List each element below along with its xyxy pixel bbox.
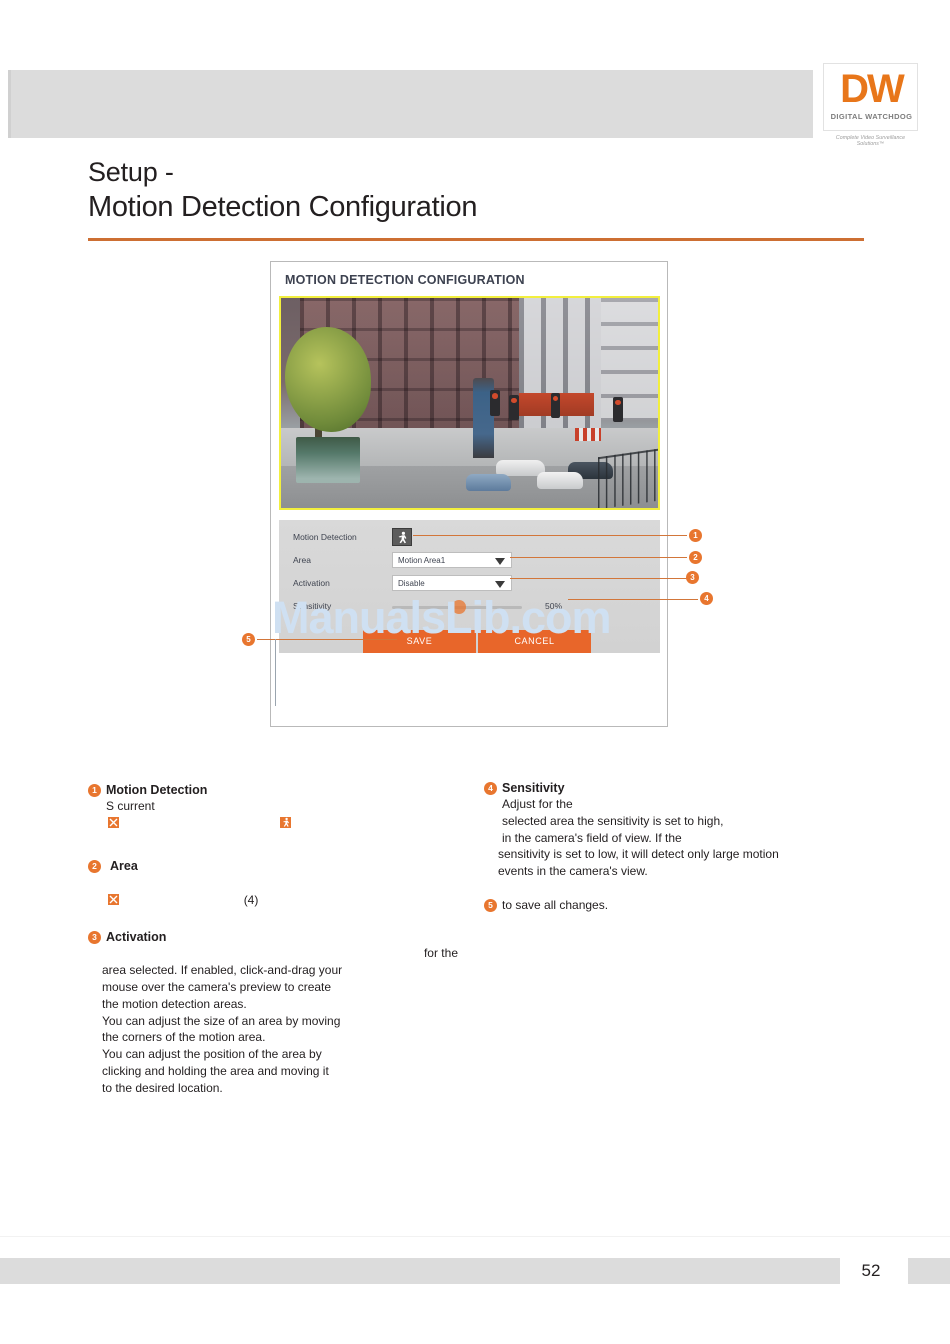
note-5: 5 to save all changes.	[484, 897, 830, 914]
callout-leader-4	[568, 599, 698, 600]
screenshot-panel-title: MOTION DETECTION CONFIGURATION	[285, 273, 525, 287]
logo-tagline: Complete Video Surveillance Solutions™	[823, 135, 918, 147]
chevron-down-icon	[495, 558, 505, 565]
callout-leader-2	[510, 557, 687, 558]
activation-label: Activation	[293, 578, 330, 588]
preview-traffic-light	[509, 395, 519, 420]
note-heading-2: Area	[110, 858, 460, 874]
motion-disabled-icon	[280, 817, 291, 828]
note-line: the corners of the motion area.	[102, 1029, 460, 1046]
note-line: to save all changes.	[502, 897, 830, 914]
brand-logo: DW DIGITAL WATCHDOG Complete Video Surve…	[823, 63, 918, 153]
motion-person-icon[interactable]	[392, 528, 412, 546]
area-select[interactable]: Motion Area1	[392, 552, 512, 568]
preview-traffic-light	[490, 390, 500, 415]
note-line: selected area the sensitivity is set to …	[502, 813, 830, 830]
form-row-sensitivity: Sensitivity 50%	[279, 597, 660, 618]
preview-building-far	[601, 298, 658, 420]
screenshot-panel: MOTION DETECTION CONFIGURATION Motion De…	[270, 261, 668, 727]
callout-badge-2: 2	[689, 551, 702, 564]
logo-mark: DW DIGITAL WATCHDOG	[823, 63, 918, 131]
note-line: sensitivity is set to low, it will detec…	[498, 846, 830, 863]
sensitivity-label: Sensitivity	[293, 601, 331, 611]
note-line: events in the camera's view.	[498, 863, 830, 880]
preview-traffic-light	[613, 397, 623, 422]
sensitivity-slider-handle[interactable]	[452, 600, 466, 614]
callout-leader-5	[257, 639, 397, 640]
note-line: area selected. If enabled, click-and-dra…	[102, 962, 460, 979]
footer-right-block	[908, 1258, 950, 1284]
area-label: Area	[293, 555, 311, 565]
note-line: in the camera's field of view. If the	[502, 830, 830, 847]
note-area-count: (4)	[244, 893, 259, 907]
camera-preview[interactable]	[279, 296, 660, 510]
note-line: You can adjust the position of the area …	[102, 1046, 460, 1063]
preview-traffic-light	[551, 393, 561, 418]
note-heading-4: Sensitivity	[502, 780, 830, 796]
preview-road-barrier	[575, 428, 601, 441]
note-line: to the desired location.	[102, 1080, 460, 1097]
activation-select-value: Disable	[398, 579, 425, 588]
logo-dw-text: DW	[828, 66, 915, 112]
note-1: 1 Motion Detection S current	[88, 782, 460, 832]
note-line	[106, 874, 460, 892]
note-line-with-icons	[106, 815, 460, 832]
form-row-motion-detection: Motion Detection	[279, 528, 660, 549]
preview-railing	[598, 449, 658, 510]
callout-badge-3: 3	[686, 571, 699, 584]
page-title-line1: Setup -	[88, 156, 788, 188]
motion-area-icon	[108, 894, 119, 905]
preview-bus-shelter	[296, 437, 360, 483]
callout-badge-5: 5	[242, 633, 255, 646]
note-line: the motion detection areas.	[102, 996, 460, 1013]
notes-column-left: 1 Motion Detection S current 2	[88, 782, 460, 1114]
area-select-value: Motion Area1	[398, 556, 445, 565]
note-line: for the	[102, 945, 460, 962]
note-3: 3 Activation for the area selected. If e…	[88, 929, 460, 1096]
note-badge-4: 4	[484, 782, 497, 795]
form-row-area: Area Motion Area1	[279, 551, 660, 572]
chevron-down-icon	[495, 581, 505, 588]
notes-column-right: 4 Sensitivity Adjust for the selected ar…	[484, 780, 830, 931]
page-title: Setup - Motion Detection Configuration	[88, 156, 788, 226]
note-line: S current	[106, 798, 460, 815]
save-button[interactable]: SAVE	[363, 630, 476, 653]
motion-detection-label: Motion Detection	[293, 532, 357, 542]
note-badge-3: 3	[88, 931, 101, 944]
callout-leader-1	[413, 535, 687, 536]
page-number: 52	[848, 1258, 894, 1284]
note-heading-1: Motion Detection	[106, 782, 460, 798]
note-badge-2: 2	[88, 860, 101, 873]
note-line: You can adjust the size of an area by mo…	[102, 1013, 460, 1030]
note-4: 4 Sensitivity Adjust for the selected ar…	[484, 780, 830, 880]
note-badge-5: 5	[484, 899, 497, 912]
note-line: mouse over the camera's preview to creat…	[102, 979, 460, 996]
footer-divider	[0, 1236, 950, 1237]
preview-car	[537, 472, 582, 489]
logo-company-name: DIGITAL WATCHDOG	[824, 112, 919, 121]
note-line: clicking and holding the area and moving…	[102, 1063, 460, 1080]
callout-badge-4: 4	[700, 592, 713, 605]
page-title-line2: Motion Detection Configuration	[88, 188, 788, 226]
note-line-with-icon: (4)	[106, 892, 460, 909]
title-divider	[88, 238, 864, 241]
callout-leader-3	[510, 578, 687, 579]
sensitivity-value: 50%	[545, 601, 562, 611]
note-heading-3: Activation	[106, 929, 460, 945]
note-2: 2 Area (4)	[88, 858, 460, 909]
note-badge-1: 1	[88, 784, 101, 797]
form-button-row: SAVE CANCEL	[279, 630, 660, 653]
motion-enabled-icon	[108, 817, 119, 828]
footer-gray-bar	[0, 1258, 840, 1284]
cancel-button[interactable]: CANCEL	[478, 630, 591, 653]
note-line: Adjust for the	[502, 796, 830, 813]
callout-leader-5-vertical	[275, 639, 276, 706]
preview-car	[466, 474, 511, 491]
activation-select[interactable]: Disable	[392, 575, 512, 591]
callout-badge-1: 1	[689, 529, 702, 542]
settings-form: Motion Detection Area Motion Area1 Activ…	[279, 520, 660, 653]
header-gray-bar	[8, 70, 813, 138]
